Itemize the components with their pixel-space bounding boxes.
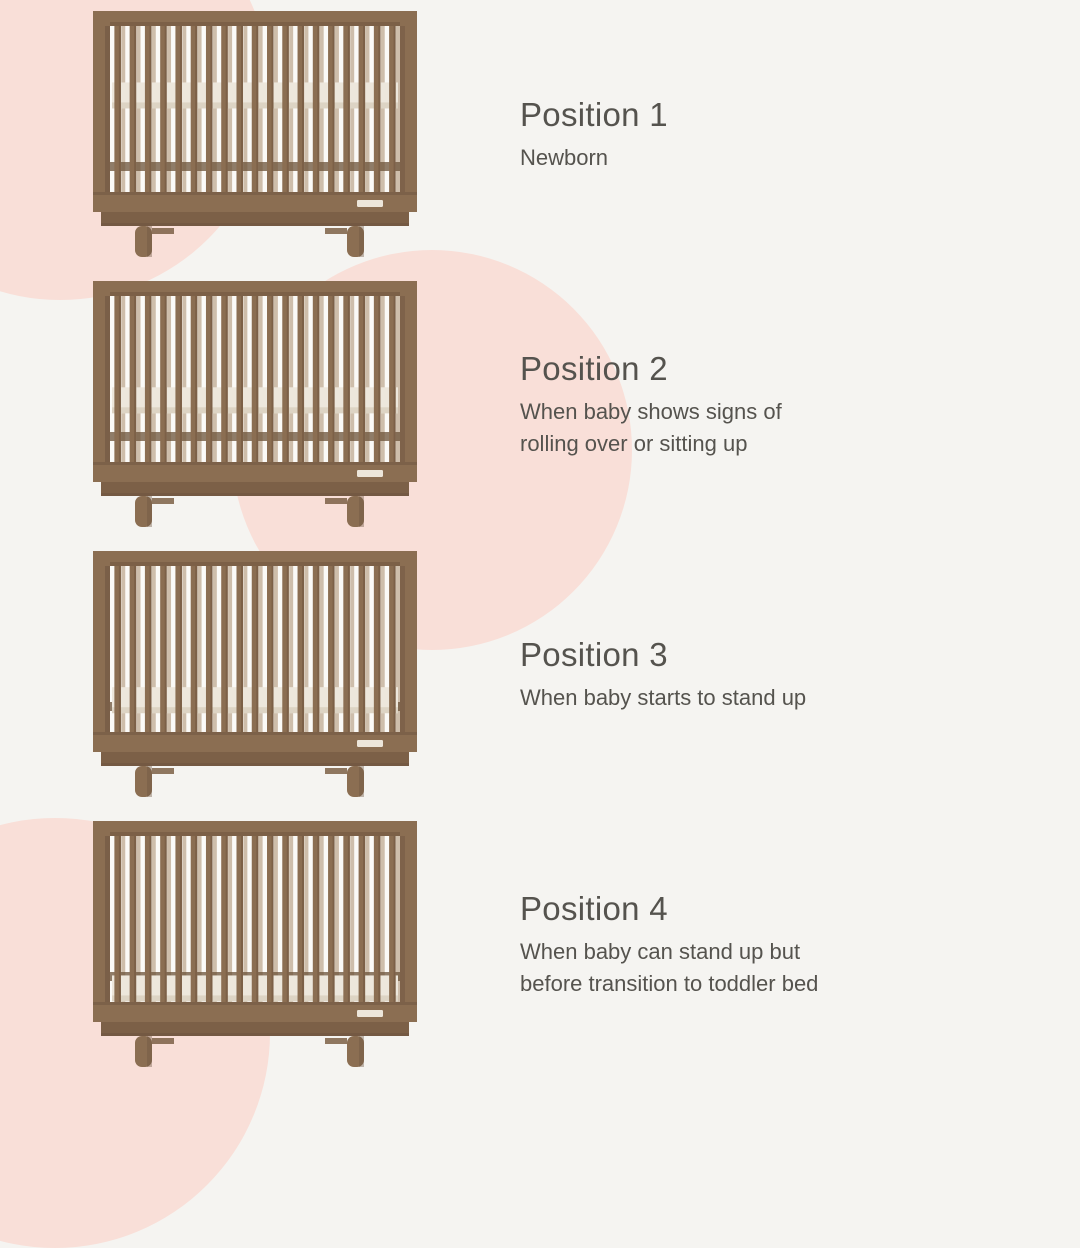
position-description-1: Newborn xyxy=(520,142,920,173)
crib-svg xyxy=(93,821,417,1069)
position-description-4-line-1: When baby can stand up but xyxy=(520,939,800,964)
brand-plate xyxy=(357,1010,383,1017)
position-title-2: Position 2 xyxy=(520,351,1080,387)
position-description-2: When baby shows signs of rolling over or… xyxy=(520,396,920,458)
position-description-4-line-2: before transition to toddler bed xyxy=(520,971,818,996)
position-description-4: When baby can stand up but before transi… xyxy=(520,936,920,998)
brand-plate xyxy=(357,200,383,207)
crib-cell-3 xyxy=(0,540,500,810)
crib-svg xyxy=(93,281,417,529)
text-cell-1: Position 1 Newborn xyxy=(500,97,1080,174)
position-title-4: Position 4 xyxy=(520,891,1080,927)
text-cell-3: Position 3 When baby starts to stand up xyxy=(500,637,1080,714)
crib-cell-2 xyxy=(0,270,500,540)
crib-leg-left xyxy=(135,1036,174,1067)
crib-leg-left xyxy=(135,226,174,257)
brand-plate xyxy=(357,470,383,477)
crib-svg xyxy=(93,11,417,259)
text-cell-4: Position 4 When baby can stand up but be… xyxy=(500,891,1080,999)
position-title-1: Position 1 xyxy=(520,97,1080,133)
crib-leg-right xyxy=(325,766,364,797)
position-description-3: When baby starts to stand up xyxy=(520,682,920,713)
brand-plate xyxy=(357,740,383,747)
crib-svg xyxy=(93,551,417,799)
text-cell-2: Position 2 When baby shows signs of roll… xyxy=(500,351,1080,459)
infographic-stage: Position 1 Newborn xyxy=(0,0,1080,1080)
crib-illustration-3 xyxy=(93,551,417,799)
crib-cell-1 xyxy=(0,0,500,270)
crib-leg-right xyxy=(325,1036,364,1067)
crib-leg-right xyxy=(325,496,364,527)
position-description-2-line-1: When baby shows signs of xyxy=(520,399,782,424)
position-row-4: Position 4 When baby can stand up but be… xyxy=(0,810,1080,1080)
crib-leg-right xyxy=(325,226,364,257)
position-row-3: Position 3 When baby starts to stand up xyxy=(0,540,1080,810)
position-row-1: Position 1 Newborn xyxy=(0,0,1080,270)
crib-leg-left xyxy=(135,496,174,527)
crib-leg-left xyxy=(135,766,174,797)
crib-cell-4 xyxy=(0,810,500,1080)
crib-illustration-4 xyxy=(93,821,417,1069)
crib-illustration-2 xyxy=(93,281,417,529)
crib-illustration-1 xyxy=(93,11,417,259)
position-description-2-line-2: rolling over or sitting up xyxy=(520,431,747,456)
position-row-2: Position 2 When baby shows signs of roll… xyxy=(0,270,1080,540)
position-title-3: Position 3 xyxy=(520,637,1080,673)
